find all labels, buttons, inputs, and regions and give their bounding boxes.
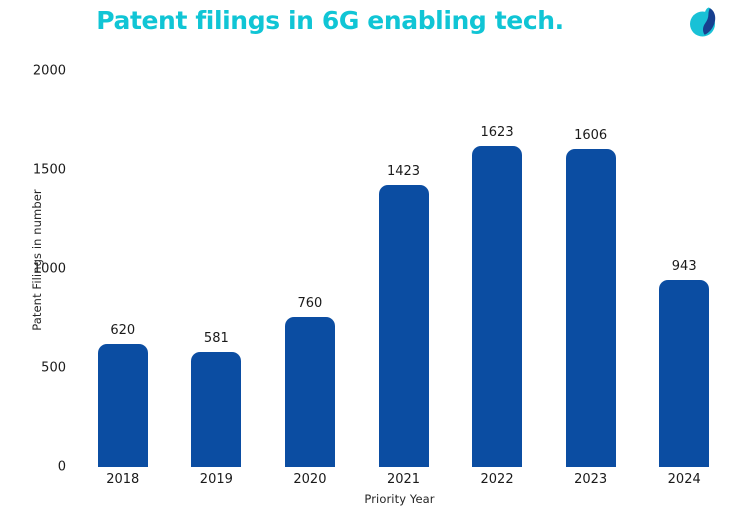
bar-value-label: 620	[110, 323, 135, 338]
y-tick-label: 2000	[0, 64, 66, 79]
x-axis-title: Priority Year	[62, 492, 737, 506]
x-tick-label: 2018	[106, 472, 139, 487]
y-axis-title: Patent Filings in number	[30, 160, 44, 360]
y-tick-label: 1000	[0, 262, 66, 277]
x-tick-label: 2020	[293, 472, 326, 487]
bar[interactable]	[566, 149, 616, 467]
y-tick-label: 1500	[0, 163, 66, 178]
bar-value-label: 760	[298, 296, 323, 311]
bar-chart: Patent Filings in number Priority Year 0…	[0, 0, 737, 515]
bar-value-label: 1423	[387, 164, 420, 179]
bar-value-label: 1606	[574, 128, 607, 143]
bar[interactable]	[191, 352, 241, 467]
bar-value-label: 581	[204, 331, 229, 346]
y-tick-label: 0	[0, 460, 66, 475]
x-tick-label: 2022	[481, 472, 514, 487]
x-tick-label: 2023	[574, 472, 607, 487]
x-tick-label: 2019	[200, 472, 233, 487]
chart-page: Patent filings in 6G enabling tech. Pate…	[0, 0, 737, 515]
bar[interactable]	[472, 146, 522, 467]
bar-value-label: 1623	[481, 125, 514, 140]
bar[interactable]	[379, 185, 429, 467]
x-tick-label: 2024	[668, 472, 701, 487]
x-tick-label: 2021	[387, 472, 420, 487]
bar-value-label: 943	[672, 259, 697, 274]
y-tick-label: 500	[0, 361, 66, 376]
bar[interactable]	[98, 344, 148, 467]
bar[interactable]	[285, 317, 335, 467]
bar[interactable]	[659, 280, 709, 467]
